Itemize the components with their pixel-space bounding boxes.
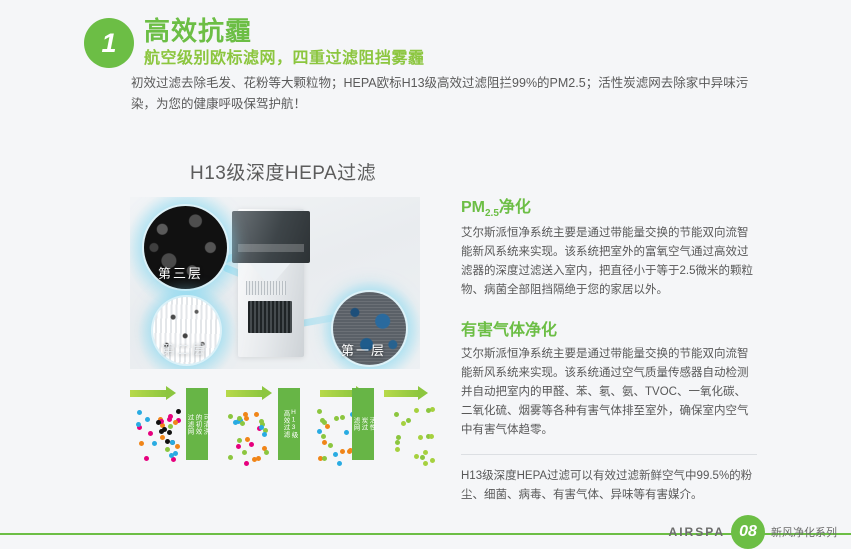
- filter-box-carbon-label: 活性炭过滤网: [351, 417, 375, 431]
- particle: [228, 414, 233, 419]
- particle: [333, 452, 338, 457]
- page-subtitle: 航空级别欧标滤网，四重过滤阻挡雾霾: [144, 48, 425, 70]
- particle: [259, 425, 264, 430]
- particle: [325, 424, 330, 429]
- particle-cloud-stage2: [222, 404, 274, 466]
- particle: [167, 430, 172, 435]
- particle: [137, 410, 142, 415]
- particle: [254, 412, 259, 417]
- particle: [340, 449, 345, 454]
- particle: [322, 440, 327, 445]
- particle: [322, 456, 327, 461]
- particle: [145, 417, 150, 422]
- product-filter-grill: [248, 301, 292, 333]
- particle: [396, 435, 401, 440]
- footer: AIRSPA 08 新风净化系列: [669, 515, 837, 549]
- flow-arrow-4: [384, 386, 428, 400]
- particle: [167, 417, 172, 422]
- gas-heading: 有害气体净化: [461, 316, 757, 340]
- section-number-badge: 1: [84, 18, 134, 68]
- particle: [426, 408, 431, 413]
- filter-box-hepa: H13级高效过滤: [278, 388, 300, 460]
- pm25-body: 艾尔斯派恒净系统主要是通过带能量交换的节能双向流智能新风系统来实现。该系统把室外…: [461, 224, 757, 300]
- filter-box-pre-label: 可清洗的初效过滤网: [185, 414, 209, 435]
- product-photo: 第三层 第二层 第一层: [130, 197, 420, 369]
- particle: [344, 430, 349, 435]
- particle: [317, 429, 322, 434]
- intro-paragraph: 初效过滤去除毛发、花粉等大颗粒物；HEPA欧标H13级高效过滤阻拦99%的PM2…: [131, 73, 756, 115]
- product-vent: [246, 281, 286, 295]
- particle: [317, 409, 322, 414]
- particle: [414, 454, 419, 459]
- particle: [148, 431, 153, 436]
- particle: [136, 422, 141, 427]
- particle-cloud-dirty: [132, 404, 184, 466]
- pm25-heading-main: PM: [461, 199, 485, 216]
- particle: [395, 440, 400, 445]
- particle: [160, 435, 165, 440]
- particle: [165, 439, 170, 444]
- particle: [173, 451, 178, 456]
- particle: [429, 434, 434, 439]
- particle: [240, 421, 245, 426]
- particle: [321, 434, 326, 439]
- particle: [414, 408, 419, 413]
- particle: [394, 412, 399, 417]
- particle: [144, 456, 149, 461]
- particle: [170, 440, 175, 445]
- particle: [264, 450, 269, 455]
- particle: [259, 419, 264, 424]
- particle: [228, 455, 233, 460]
- particle: [406, 418, 411, 423]
- particle: [237, 438, 242, 443]
- layer2-label: 第二层: [162, 339, 207, 358]
- gas-body: 艾尔斯派恒净系统主要是通过带能量交换的节能双向流智能新风系统来实现。该系统通过空…: [461, 345, 757, 440]
- flow-arrow-1: [130, 386, 176, 400]
- particle: [252, 457, 257, 462]
- particle: [176, 409, 181, 414]
- footer-page-badge: 08: [731, 515, 765, 549]
- particle: [328, 443, 333, 448]
- particle: [168, 424, 173, 429]
- particle: [334, 416, 339, 421]
- particle: [244, 461, 249, 466]
- particle: [152, 441, 157, 446]
- particle: [430, 458, 435, 463]
- product-unit-top: [232, 211, 310, 263]
- particle: [420, 455, 425, 460]
- footer-series: 新风净化系列: [771, 524, 837, 540]
- filter-box-hepa-label: H13级高效过滤: [281, 409, 297, 439]
- particle: [171, 457, 176, 462]
- layer1-label: 第一层: [341, 340, 386, 359]
- pm25-heading: PM2.5净化: [461, 193, 757, 219]
- particle: [401, 421, 406, 426]
- particle: [249, 442, 254, 447]
- particle: [165, 447, 170, 452]
- filtration-flow-diagram: 可清洗的初效过滤网 H13级高效过滤 活性炭过滤网: [130, 386, 430, 468]
- pm25-heading-sub: 2.5: [485, 208, 499, 219]
- particle: [245, 437, 250, 442]
- particle: [395, 447, 400, 452]
- particle: [236, 444, 241, 449]
- pm25-heading-tail: 净化: [499, 199, 531, 216]
- column-divider: [461, 454, 757, 455]
- particle: [423, 450, 428, 455]
- footer-brand: AIRSPA: [669, 525, 725, 539]
- layer3-label: 第三层: [158, 263, 203, 282]
- brochure-page: 1 高效抗霾 航空级别欧标滤网，四重过滤阻挡雾霾 初效过滤去除毛发、花粉等大颗粒…: [0, 0, 851, 549]
- header-text-group: 高效抗霾 航空级别欧标滤网，四重过滤阻挡雾霾: [144, 16, 425, 70]
- particle: [418, 435, 423, 440]
- hepa-summary-body: H13级深度HEPA过滤可以有效过滤新鲜空气中99.5%的粉尘、细菌、病毒、有害…: [461, 467, 757, 505]
- section-title: H13级深度HEPA过滤: [190, 158, 376, 185]
- particle: [139, 441, 144, 446]
- particle: [340, 415, 345, 420]
- flow-arrow-2: [226, 386, 272, 400]
- particle-cloud-clean: [388, 404, 440, 466]
- filter-box-pre: 可清洗的初效过滤网: [186, 388, 208, 460]
- particle: [262, 432, 267, 437]
- page-header: 1 高效抗霾 航空级别欧标滤网，四重过滤阻挡雾霾: [84, 16, 784, 72]
- particle: [242, 450, 247, 455]
- particle: [169, 453, 174, 458]
- filter-box-carbon: 活性炭过滤网: [352, 388, 374, 460]
- page-title: 高效抗霾: [144, 16, 425, 46]
- particle: [175, 444, 180, 449]
- particle: [159, 429, 164, 434]
- right-column: PM2.5净化 艾尔斯派恒净系统主要是通过带能量交换的节能双向流智能新风系统来实…: [461, 193, 757, 505]
- particle: [423, 461, 428, 466]
- particle: [337, 461, 342, 466]
- particle: [243, 412, 248, 417]
- particle: [173, 420, 178, 425]
- particle: [430, 407, 435, 412]
